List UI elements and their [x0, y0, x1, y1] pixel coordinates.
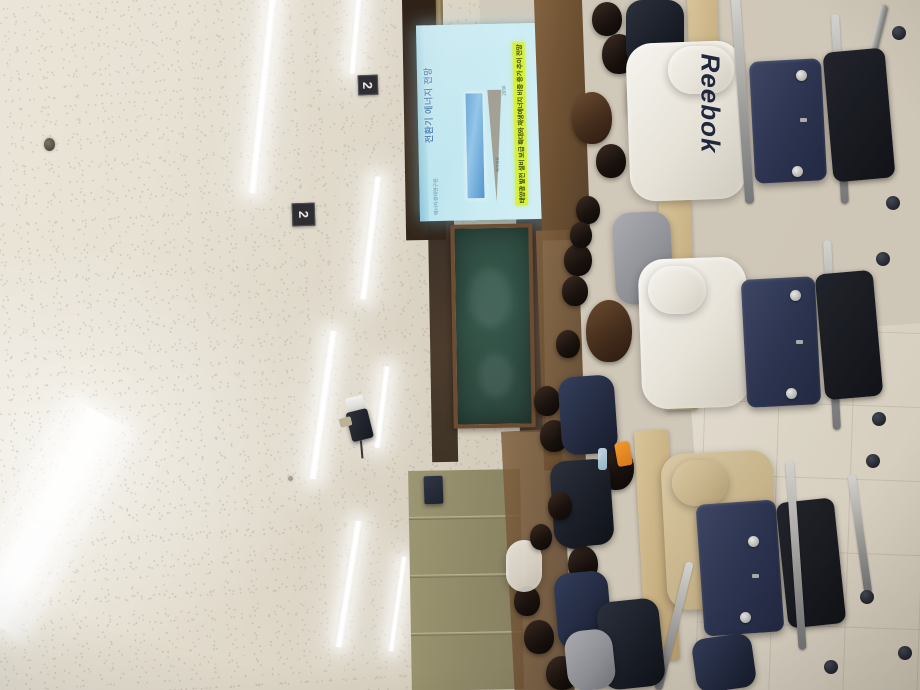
- chair-tag: [752, 574, 759, 578]
- chair-foot: [824, 660, 838, 674]
- person-tan-hood: [672, 460, 728, 506]
- chair-knob: [740, 612, 751, 623]
- person-head: [562, 276, 588, 306]
- room-number-label-2: 2: [360, 81, 375, 89]
- chair-knob: [786, 388, 797, 399]
- person-hoodie: [563, 628, 617, 690]
- water-bottle: [598, 448, 607, 470]
- brand-text-reebok: Reebok: [694, 54, 725, 154]
- chair-tag: [796, 340, 803, 344]
- person-head: [586, 300, 632, 362]
- chair-foot: [876, 252, 890, 266]
- chalkboard: [450, 223, 536, 428]
- chair-foot: [892, 26, 906, 40]
- chair-knob: [790, 290, 801, 301]
- chair-foot: [886, 196, 900, 210]
- person-head: [548, 492, 572, 520]
- room-number-label-1: 2: [296, 211, 311, 219]
- chair-back: [741, 276, 822, 408]
- chair-foot: [872, 412, 886, 426]
- person-head: [524, 620, 554, 654]
- chair-tag: [800, 118, 807, 122]
- chair-back: [749, 58, 827, 184]
- person-head: [596, 144, 626, 178]
- chair-seat: [815, 270, 884, 401]
- person-head: [534, 386, 560, 416]
- ceiling-mark-icon: [288, 476, 293, 481]
- person-head: [592, 2, 622, 36]
- person-head: [530, 524, 552, 550]
- person-padded-hood: [648, 266, 706, 314]
- panel-divider-3: [411, 631, 523, 636]
- chalk-smudge-1: [469, 268, 512, 329]
- person-head: [570, 222, 592, 248]
- chair-knob: [748, 536, 759, 547]
- lecture-hall-photo: 2 2 2030 화석연료 전환기 에너지 전망 에너지경제연구원 태양광 발전…: [0, 0, 920, 690]
- person-head: [576, 196, 600, 224]
- chair-foot: [898, 646, 912, 660]
- room-number-plate-2: 2: [358, 75, 379, 96]
- chair-seat: [822, 48, 895, 183]
- chair-knob: [792, 166, 803, 177]
- person-head: [556, 330, 580, 358]
- backpack-on-floor: [691, 632, 758, 690]
- panel-divider-1: [409, 515, 521, 520]
- person-torso: [557, 374, 618, 456]
- chair-knob: [796, 70, 807, 81]
- person-head: [572, 92, 612, 144]
- person-head: [564, 244, 592, 276]
- chair-foot: [866, 454, 880, 468]
- smoke-detector-icon: [44, 138, 55, 151]
- orange-bag: [614, 441, 633, 467]
- chair-foot: [860, 590, 874, 604]
- wall-speaker: [424, 476, 444, 505]
- chalk-smudge-2: [478, 354, 513, 399]
- room-number-plate-1: 2: [292, 203, 316, 227]
